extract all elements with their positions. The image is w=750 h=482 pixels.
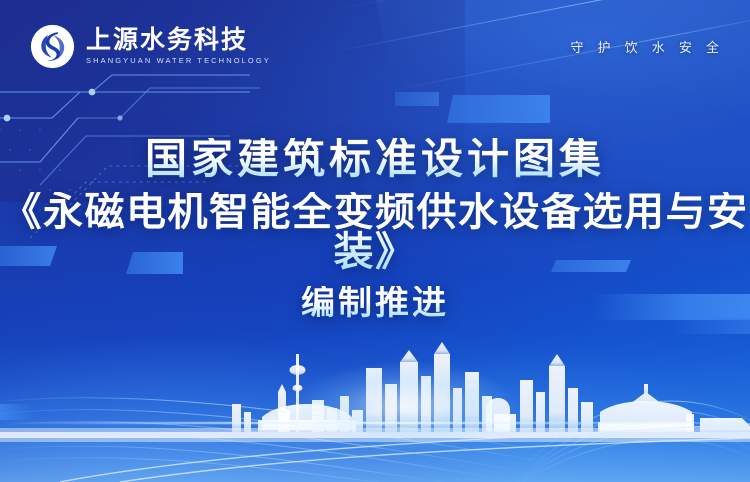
banner-poster: 上源水务科技 SHANGYUAN WATER TECHNOLOGY 守 护 饮 … (0, 0, 750, 482)
title-line-1: 国家建筑标准设计图集 (0, 138, 750, 180)
accent-block (447, 95, 550, 123)
header-bar: 上源水务科技 SHANGYUAN WATER TECHNOLOGY 守 护 饮 … (0, 0, 750, 92)
brand-name-cn: 上源水务科技 (86, 27, 271, 53)
tagline: 守 护 饮 水 安 全 (570, 37, 724, 56)
title-line-2: 《永磁电机智能全变频供水设备选用与安装》 (0, 192, 750, 272)
accent-block (395, 92, 439, 106)
city-skyline-scene (0, 292, 750, 482)
brand-logo[interactable]: 上源水务科技 SHANGYUAN WATER TECHNOLOGY (30, 24, 271, 69)
brand-name-en: SHANGYUAN WATER TECHNOLOGY (86, 56, 271, 65)
center-glow (255, 346, 555, 466)
brand-text: 上源水务科技 SHANGYUAN WATER TECHNOLOGY (86, 27, 271, 65)
water-wave-circle-logo-icon (30, 24, 75, 69)
